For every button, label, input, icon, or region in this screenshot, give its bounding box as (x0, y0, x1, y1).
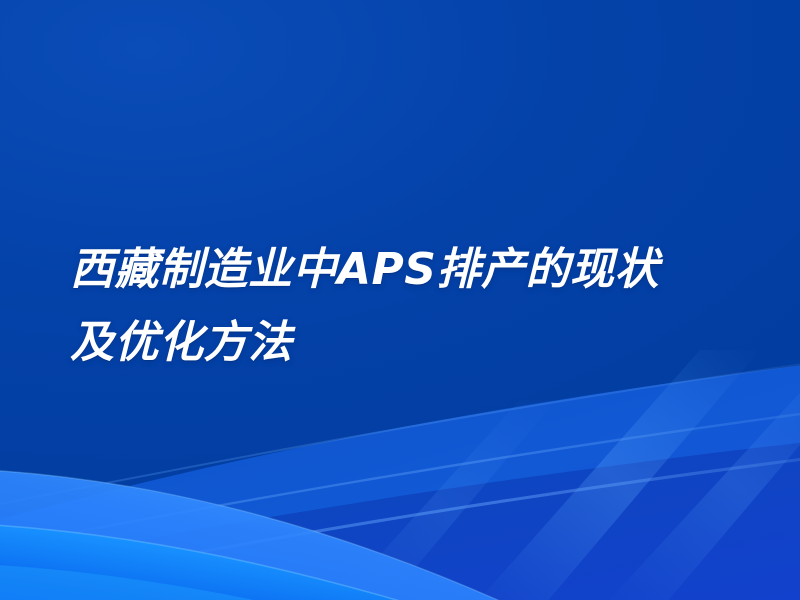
title-line-2: 及优化方法 (70, 305, 770, 380)
title-line-1: 西藏制造业中APS排产的现状 (70, 232, 770, 307)
poster-canvas: 西藏制造业中APS排产的现状 及优化方法 (0, 0, 800, 600)
poster-title: 西藏制造业中APS排产的现状 及优化方法 (70, 232, 770, 380)
